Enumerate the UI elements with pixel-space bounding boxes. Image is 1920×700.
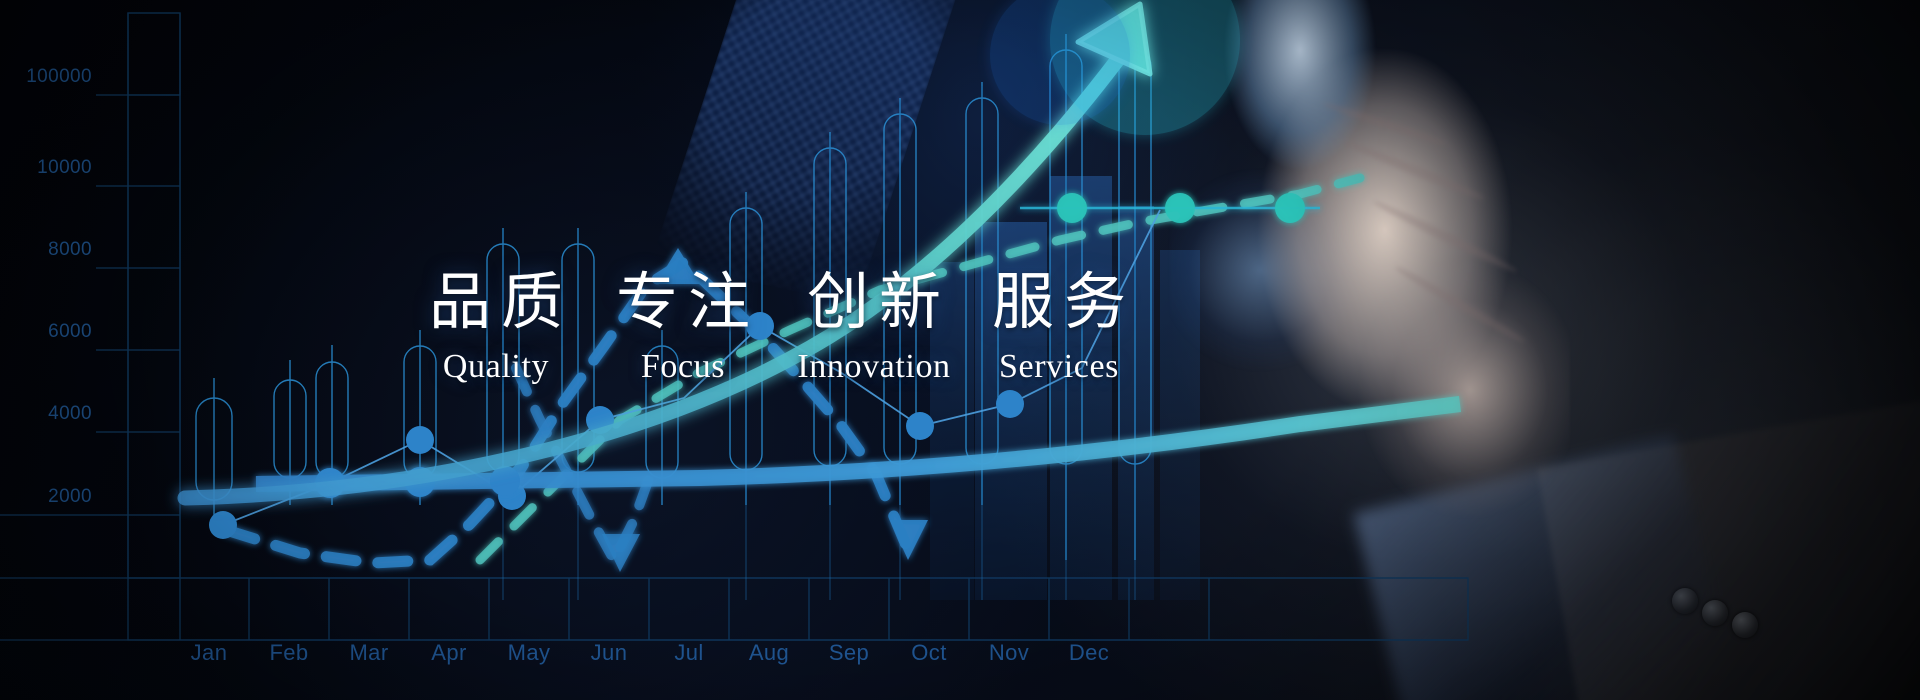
slogan-services: 服务 Services (929, 272, 1189, 384)
banner-hero: 100000 10000 8000 6000 4000 2000 Jan Feb… (0, 0, 1920, 700)
slogan-services-cn: 服务 (929, 272, 1189, 334)
slogan-services-en: Services (929, 350, 1189, 384)
slogan-group: 品质 Quality 专注 Focus 创新 Innovation 服务 Ser… (0, 0, 1920, 700)
